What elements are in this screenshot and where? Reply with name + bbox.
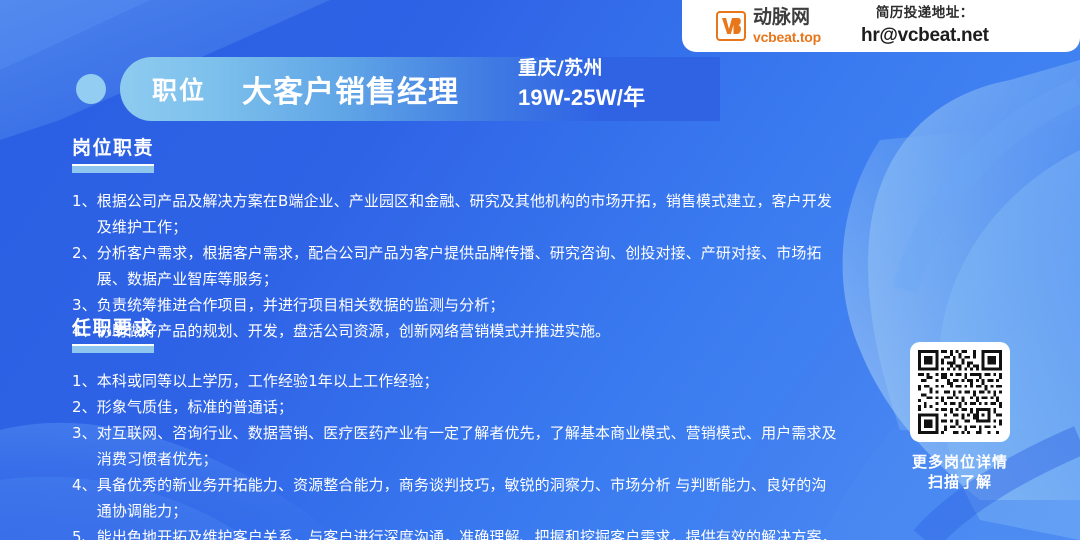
list-item: 3、 对互联网、咨询行业、数据营销、医疗医药产业有一定了解者优先，了解基本商业模… [72,420,840,472]
qr-caption: 更多岗位详情 扫描了解 [860,452,1060,492]
resume-label: 简历投递地址： [861,5,989,22]
list-item-text: 根据公司产品及解决方案在B端企业、产业园区和金融、研究及其他机构的市场开拓，销售… [97,188,840,240]
list-item-number: 2、 [72,240,97,292]
list-item-number: 1、 [72,368,97,394]
job-location: 重庆/苏州 [518,56,645,81]
list-item-number: 3、 [72,420,97,472]
qr-code-card[interactable] [910,342,1010,442]
job-title-row: 职位 大客户销售经理 [120,57,740,121]
list-item-text: 形象气质佳，标准的普通话； [97,394,840,420]
list-item-number: 2、 [72,394,97,420]
brand-name-en: vcbeat.top [753,30,821,44]
list-item-number: 4、 [72,472,97,524]
list-item-text: 分析客户需求，根据客户需求，配合公司产品为客户提供品牌传播、研究咨询、创投对接、… [97,240,840,292]
list-item-text: 具备优秀的新业务开拓能力、资源整合能力，商务谈判技巧，敏锐的洞察力、市场分析 与… [97,472,840,524]
list-item-number: 1、 [72,188,97,240]
list-item: 2、 形象气质佳，标准的普通话； [72,394,840,420]
section-heading: 岗位职责 [72,133,154,166]
list-item: 4、 具备优秀的新业务开拓能力、资源整合能力，商务谈判技巧，敏锐的洞察力、市场分… [72,472,840,524]
resume-contact: 简历投递地址： hr@vcbeat.net [861,5,989,48]
section-heading: 任职要求 [72,313,154,346]
job-title-kicker: 职位 [152,71,206,107]
job-meta: 重庆/苏州 19W-25W/年 [518,56,645,112]
list-item: 1、 根据公司产品及解决方案在B端企业、产业园区和金融、研究及其他机构的市场开拓… [72,188,840,240]
brand-logo: 动脉网 vcbeat.top [716,8,821,44]
job-title-name: 大客户销售经理 [242,67,459,111]
decorative-dot [76,74,106,104]
brand-name-cn: 动脉网 [753,8,821,27]
resume-email[interactable]: hr@vcbeat.net [861,24,989,48]
list-item-text: 本科或同等以上学历，工作经验1年以上工作经验； [97,368,840,394]
qr-code-icon [918,350,1002,434]
job-posting-poster: 动脉网 vcbeat.top 简历投递地址： hr@vcbeat.net 职位 … [0,0,1080,540]
list-item: 1、 本科或同等以上学历，工作经验1年以上工作经验； [72,368,840,394]
job-salary: 19W-25W/年 [518,84,645,113]
list-item: 5、 能出色地开拓及维护客户关系，与客户进行深度沟通，准确理解、把握和挖掘客户需… [72,524,840,540]
list-item-number: 5、 [72,524,97,540]
list-item: 2、 分析客户需求，根据客户需求，配合公司产品为客户提供品牌传播、研究咨询、创投… [72,240,840,292]
qr-caption-line2: 扫描了解 [860,472,1060,492]
list-item-text: 对互联网、咨询行业、数据营销、医疗医药产业有一定了解者优先，了解基本商业模式、营… [97,420,840,472]
requirement-list: 1、 本科或同等以上学历，工作经验1年以上工作经验； 2、 形象气质佳，标准的普… [72,368,840,540]
qr-caption-line1: 更多岗位详情 [860,452,1060,472]
vb-monogram-icon [716,11,746,41]
list-item-text: 能出色地开拓及维护客户关系，与客户进行深度沟通，准确理解、把握和挖掘客户需求，提… [97,524,840,540]
header-contact-card: 动脉网 vcbeat.top 简历投递地址： hr@vcbeat.net [682,0,1080,52]
section-requirements: 任职要求 1、 本科或同等以上学历，工作经验1年以上工作经验； 2、 形象气质佳… [72,313,840,540]
